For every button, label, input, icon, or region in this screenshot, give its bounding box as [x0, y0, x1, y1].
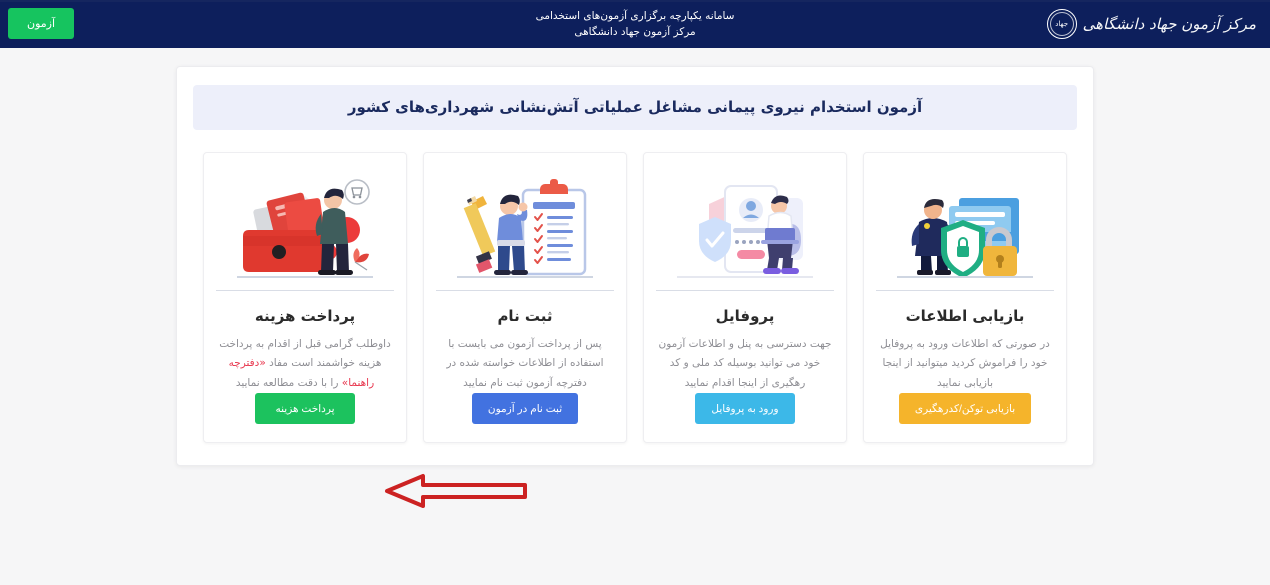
profile-login-button[interactable]: ورود به پروفایل — [695, 393, 795, 424]
card-title: ثبت نام — [497, 307, 552, 325]
card-title: پروفایل — [716, 307, 775, 325]
site-title-line-1: سامانه یکپارچه برگزاری آزمون‌های استخدام… — [536, 10, 735, 23]
wallet-payment-illustration-icon — [216, 167, 394, 291]
jahad-seal-icon: جهاد — [1047, 9, 1077, 39]
card-payment[interactable]: پرداخت هزینه داوطلب گرامی قبل از اقدام ب… — [203, 152, 407, 443]
profile-login-illustration-icon — [656, 167, 834, 291]
checklist-clipboard-illustration-icon — [436, 167, 614, 291]
brand-logo-text: مرکز آزمون جهاد دانشگاهی — [1083, 15, 1256, 33]
exam-button[interactable]: آزمون — [8, 8, 74, 39]
main-panel: آزمون استخدام نیروی پیمانی مشاغل عملیاتی… — [176, 66, 1094, 466]
site-title-line-2: مرکز آزمون جهاد دانشگاهی — [574, 26, 695, 39]
page-body: آزمون استخدام نیروی پیمانی مشاغل عملیاتی… — [0, 66, 1270, 466]
red-arrow-annotation-icon — [383, 473, 529, 509]
card-recover-info[interactable]: بازیابی اطلاعات در صورتی که اطلاعات ورود… — [863, 152, 1067, 443]
card-description: داوطلب گرامی قبل از اقدام به پرداخت هزین… — [216, 335, 394, 393]
page-title: آزمون استخدام نیروی پیمانی مشاغل عملیاتی… — [193, 85, 1077, 130]
description-part-2: را با دقت مطالعه نمایید — [236, 377, 342, 389]
register-exam-button[interactable]: ثبت نام در آزمون — [472, 393, 578, 424]
card-description: جهت دسترسی به پنل و اطلاعات آزمون خود می… — [656, 335, 834, 393]
card-title: بازیابی اطلاعات — [906, 307, 1025, 325]
card-registration[interactable]: ثبت نام پس از پرداخت آزمون می بایست با ا… — [423, 152, 627, 443]
card-profile[interactable]: پروفایل جهت دسترسی به پنل و اطلاعات آزمو… — [643, 152, 847, 443]
security-guard-lock-illustration-icon — [876, 167, 1054, 291]
card-description: در صورتی که اطلاعات ورود به پروفایل خود … — [876, 335, 1054, 393]
header-accent-line — [0, 0, 1270, 2]
recover-token-button[interactable]: بازیابی توکن/کدرهگیری — [899, 393, 1031, 424]
top-header-bar: آزمون سامانه یکپارچه برگزاری آزمون‌های ا… — [0, 0, 1270, 48]
card-grid: بازیابی اطلاعات در صورتی که اطلاعات ورود… — [193, 152, 1077, 443]
pay-fee-button[interactable]: پرداخت هزینه — [255, 393, 355, 424]
card-title: پرداخت هزینه — [255, 307, 355, 325]
card-description: پس از پرداخت آزمون می بایست با استفاده ا… — [436, 335, 614, 393]
brand-logo[interactable]: مرکز آزمون جهاد دانشگاهی جهاد — [1047, 9, 1256, 39]
brand-seal-text: جهاد — [1055, 21, 1068, 28]
